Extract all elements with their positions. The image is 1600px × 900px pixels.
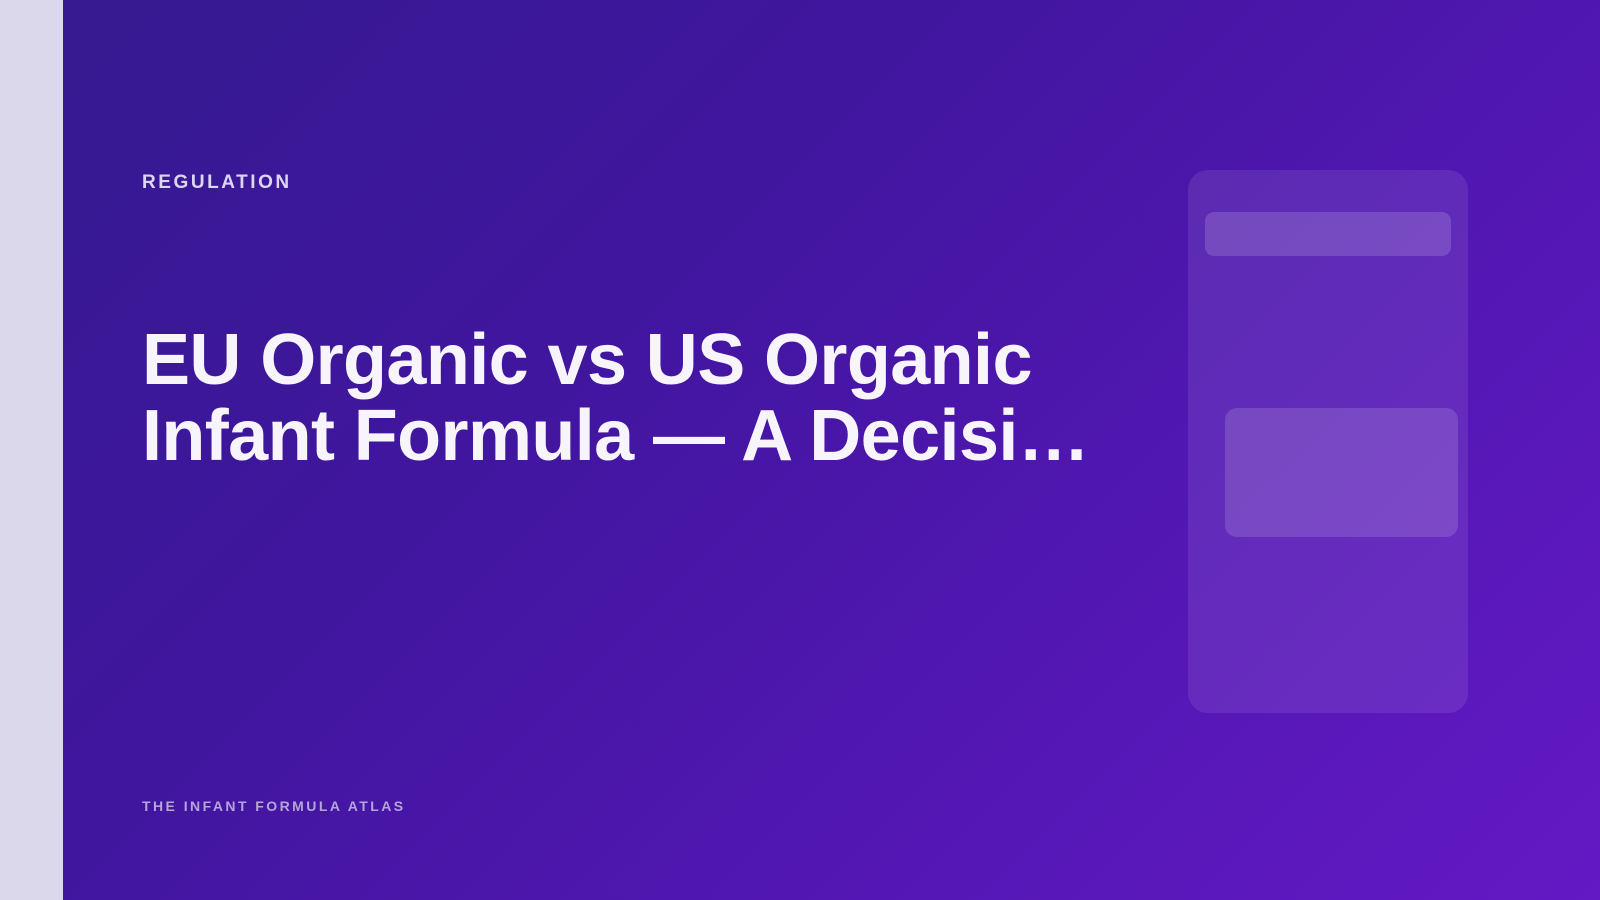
decorative-placeholder-card xyxy=(1188,170,1468,713)
decorative-placeholder-bar xyxy=(1205,212,1451,256)
slide-content: REGULATION EU Organic vs US Organic Infa… xyxy=(142,0,1202,900)
slide-eyebrow-category: REGULATION xyxy=(142,170,292,196)
slide-footer-brand: THE INFANT FORMULA ATLAS xyxy=(142,796,406,816)
slide-title: EU Organic vs US Organic Infant Formula … xyxy=(142,322,1142,474)
slide-panel: REGULATION EU Organic vs US Organic Infa… xyxy=(63,0,1600,900)
decorative-placeholder-block xyxy=(1225,408,1458,537)
slide-root: REGULATION EU Organic vs US Organic Infa… xyxy=(0,0,1600,900)
left-accent-rail xyxy=(0,0,63,900)
